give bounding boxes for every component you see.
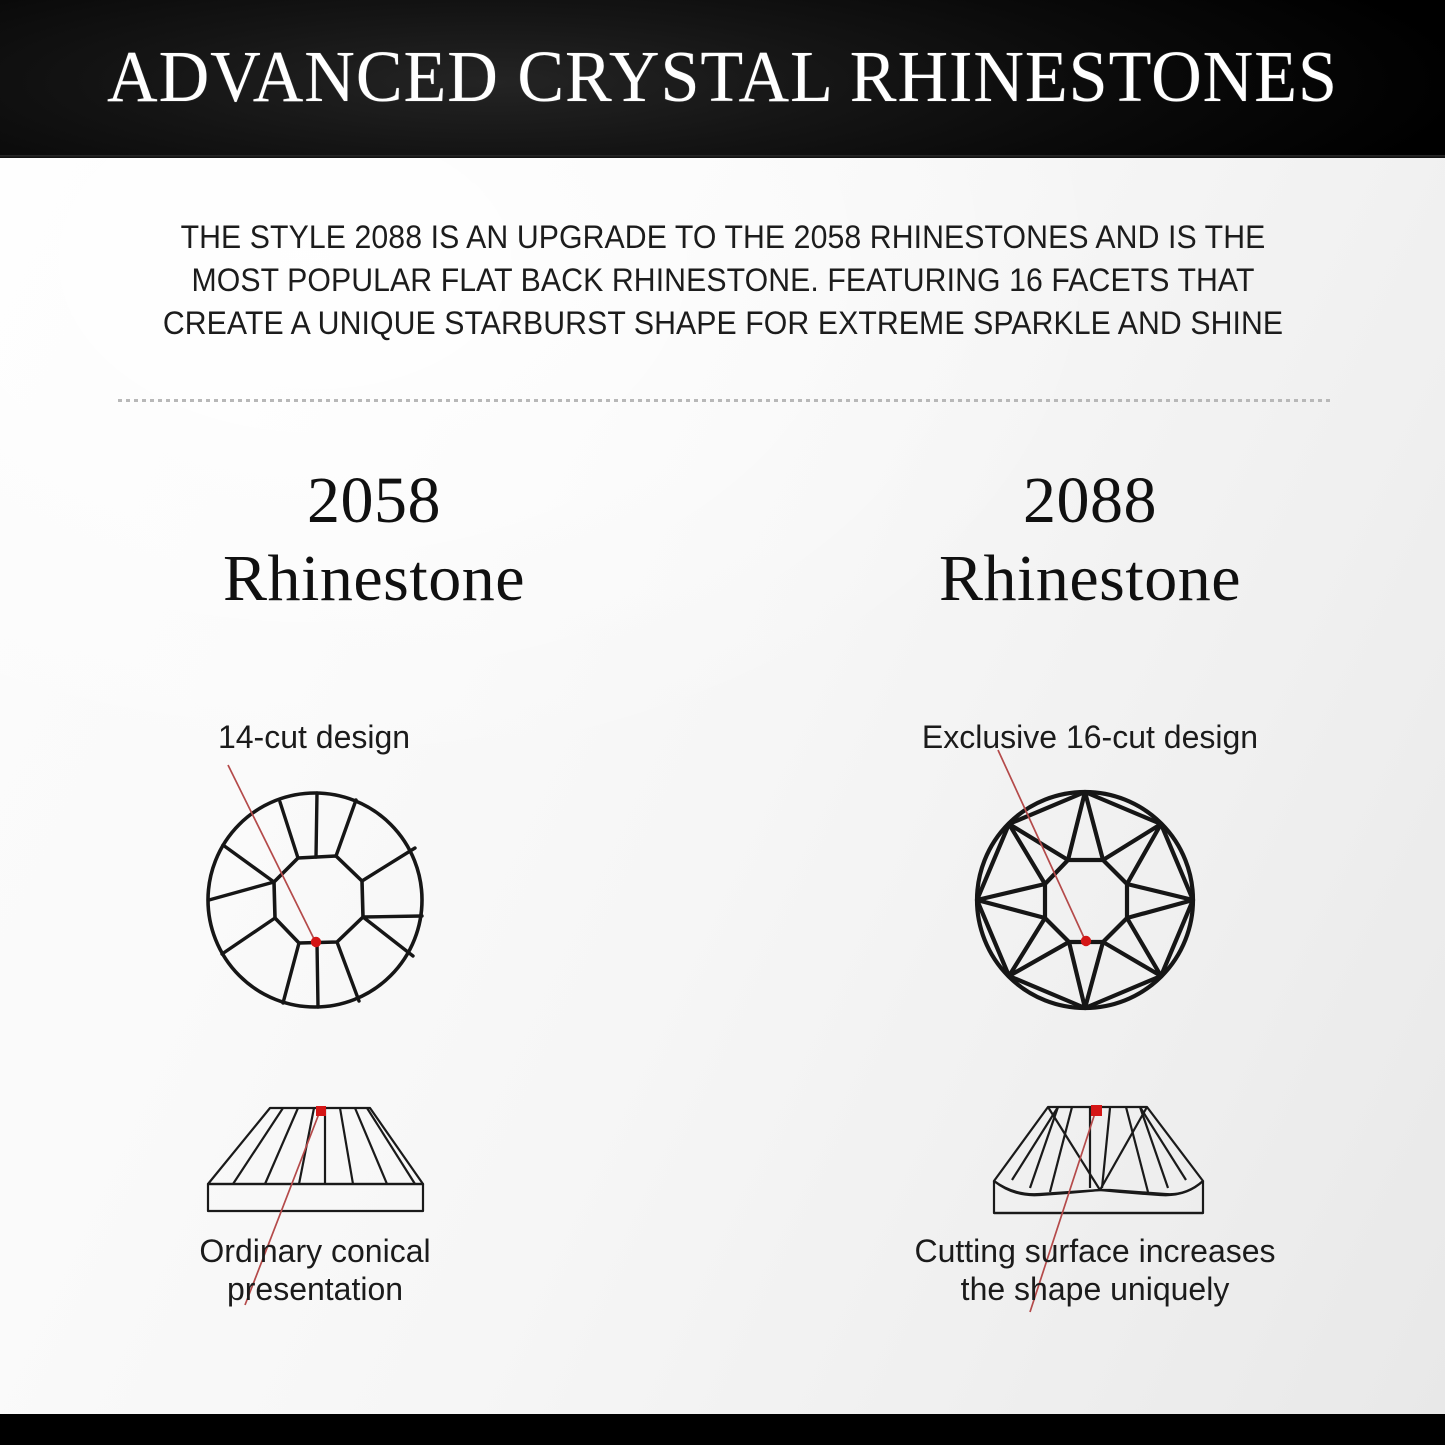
star-points-2088 [977,792,1193,1008]
left-caption-line-2: presentation [5,1270,625,1308]
pointer-line-2058-top [228,765,316,943]
left-caption-line-1: Ordinary conical [5,1232,625,1270]
intro-line-3: CREATE A UNIQUE STARBURST SHAPE FOR EXTR… [151,302,1295,345]
base-slab-2058 [208,1184,423,1211]
column-right-title-word: Rhinestone [790,540,1390,618]
right-caption-line-2: the shape uniquely [785,1270,1405,1308]
pointer-dot-2058-side [316,1106,326,1116]
column-left-title: 2058 Rhinestone [74,462,674,618]
intro-line-1: THE STYLE 2088 IS AN UPGRADE TO THE 2058… [151,216,1295,259]
intro-paragraph: THE STYLE 2088 IS AN UPGRADE TO THE 2058… [108,216,1338,345]
crown-outline-2088 [994,1107,1203,1194]
left-bottom-caption: Ordinary conical presentation [5,1232,625,1308]
diagram-2058-top-view [170,740,460,1030]
pointer-dot-2058-top [311,937,321,947]
column-left: 2058 Rhinestone [74,462,674,618]
header-banner: ADVANCED CRYSTAL RHINESTONES [0,0,1445,158]
pointer-dot-2088-side [1091,1105,1102,1116]
column-left-title-number: 2058 [74,462,674,540]
column-right-title-number: 2088 [790,462,1390,540]
footer-bar [0,1414,1445,1445]
column-right: 2088 Rhinestone [790,462,1390,618]
right-caption-line-1: Cutting surface increases [785,1232,1405,1270]
infographic-page: ADVANCED CRYSTAL RHINESTONES THE STYLE 2… [0,0,1445,1445]
table-facet-octagon-2088 [1045,860,1127,942]
column-left-title-word: Rhinestone [74,540,674,618]
column-right-title: 2088 Rhinestone [790,462,1390,618]
pointer-dot-2088-top [1081,936,1091,946]
page-title: ADVANCED CRYSTAL RHINESTONES [29,0,1416,152]
right-bottom-caption: Cutting surface increases the shape uniq… [785,1232,1405,1308]
table-facet-octagon-2058 [274,856,363,943]
diagram-2088-top-view [940,740,1230,1030]
header-bottom-rule [0,155,1445,158]
dotted-divider [118,399,1330,402]
intro-line-2: MOST POPULAR FLAT BACK RHINESTONE. FEATU… [151,259,1295,302]
